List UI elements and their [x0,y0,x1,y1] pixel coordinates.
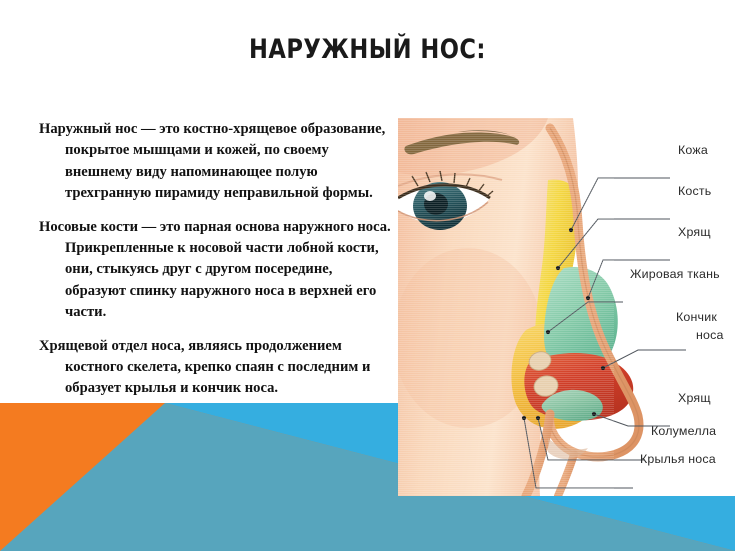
anatomy-svg [398,118,735,496]
halftone-overlay [398,118,614,496]
paragraph-3: Хрящевой отдел носа, являясь продолжение… [39,336,391,400]
page-title: НАРУЖНЫЙ НОС: [26,34,710,65]
slide-canvas: НАРУЖНЫЙ НОС: Наружный нос — это костно-… [0,0,735,551]
paragraph-1: Наружный нос — это костно-хрящевое образ… [39,119,391,205]
paragraph-2: Носовые кости — это парная основа наружн… [39,217,391,324]
anatomy-illustration [398,118,735,496]
body-text-block: Наружный нос — это костно-хрящевое образ… [39,119,391,433]
